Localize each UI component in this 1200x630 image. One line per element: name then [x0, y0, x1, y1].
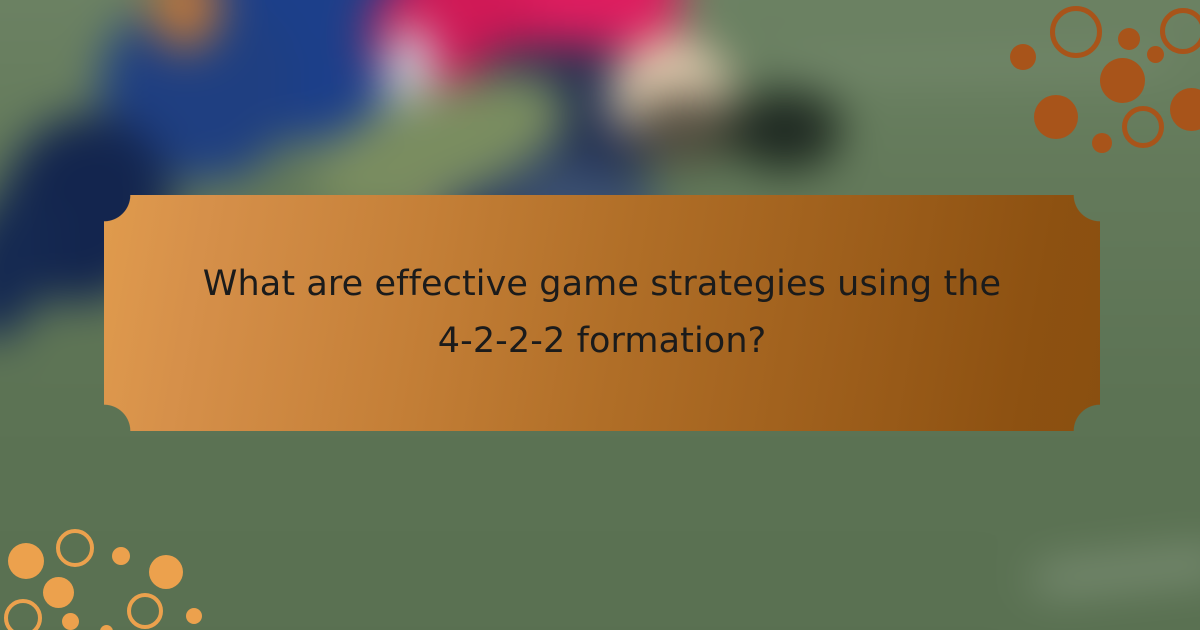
decor-circle-dot-0	[8, 543, 44, 579]
decor-circle-ring-1	[56, 529, 94, 567]
page-title: What are effective game strategies using…	[202, 256, 1002, 370]
ball-shadow	[630, 95, 740, 165]
decor-circle-dot-4	[1118, 28, 1140, 50]
decor-circle-dot-9	[100, 625, 113, 630]
decor-circle-dot-8	[62, 613, 79, 630]
decor-circle-ring-7	[127, 593, 163, 629]
headline-banner: What are effective game strategies using…	[104, 195, 1100, 431]
decor-circle-dot-7	[1147, 46, 1164, 63]
decor-circle-dot-2	[1034, 95, 1078, 139]
decor-circle-dot-3	[1092, 133, 1112, 153]
decor-circle-dot-0	[1010, 44, 1036, 70]
poster-canvas: What are effective game strategies using…	[0, 0, 1200, 630]
decor-circle-ring-8	[1122, 106, 1164, 148]
decor-circle-ring-6	[1160, 8, 1200, 54]
decor-circle-dot-9	[1170, 88, 1200, 131]
decor-circle-dot-5	[186, 608, 202, 624]
decor-circle-ring-6	[4, 599, 42, 630]
circle-cluster-top-right	[992, 0, 1200, 150]
decor-circle-ring-1	[1050, 6, 1102, 58]
decor-circle-dot-2	[112, 547, 130, 565]
decor-circle-dot-5	[1100, 58, 1145, 103]
circle-cluster-bottom-left	[0, 515, 210, 630]
decor-circle-dot-4	[149, 555, 183, 589]
dark-shoe	[730, 90, 840, 170]
decor-circle-dot-3	[43, 577, 74, 608]
